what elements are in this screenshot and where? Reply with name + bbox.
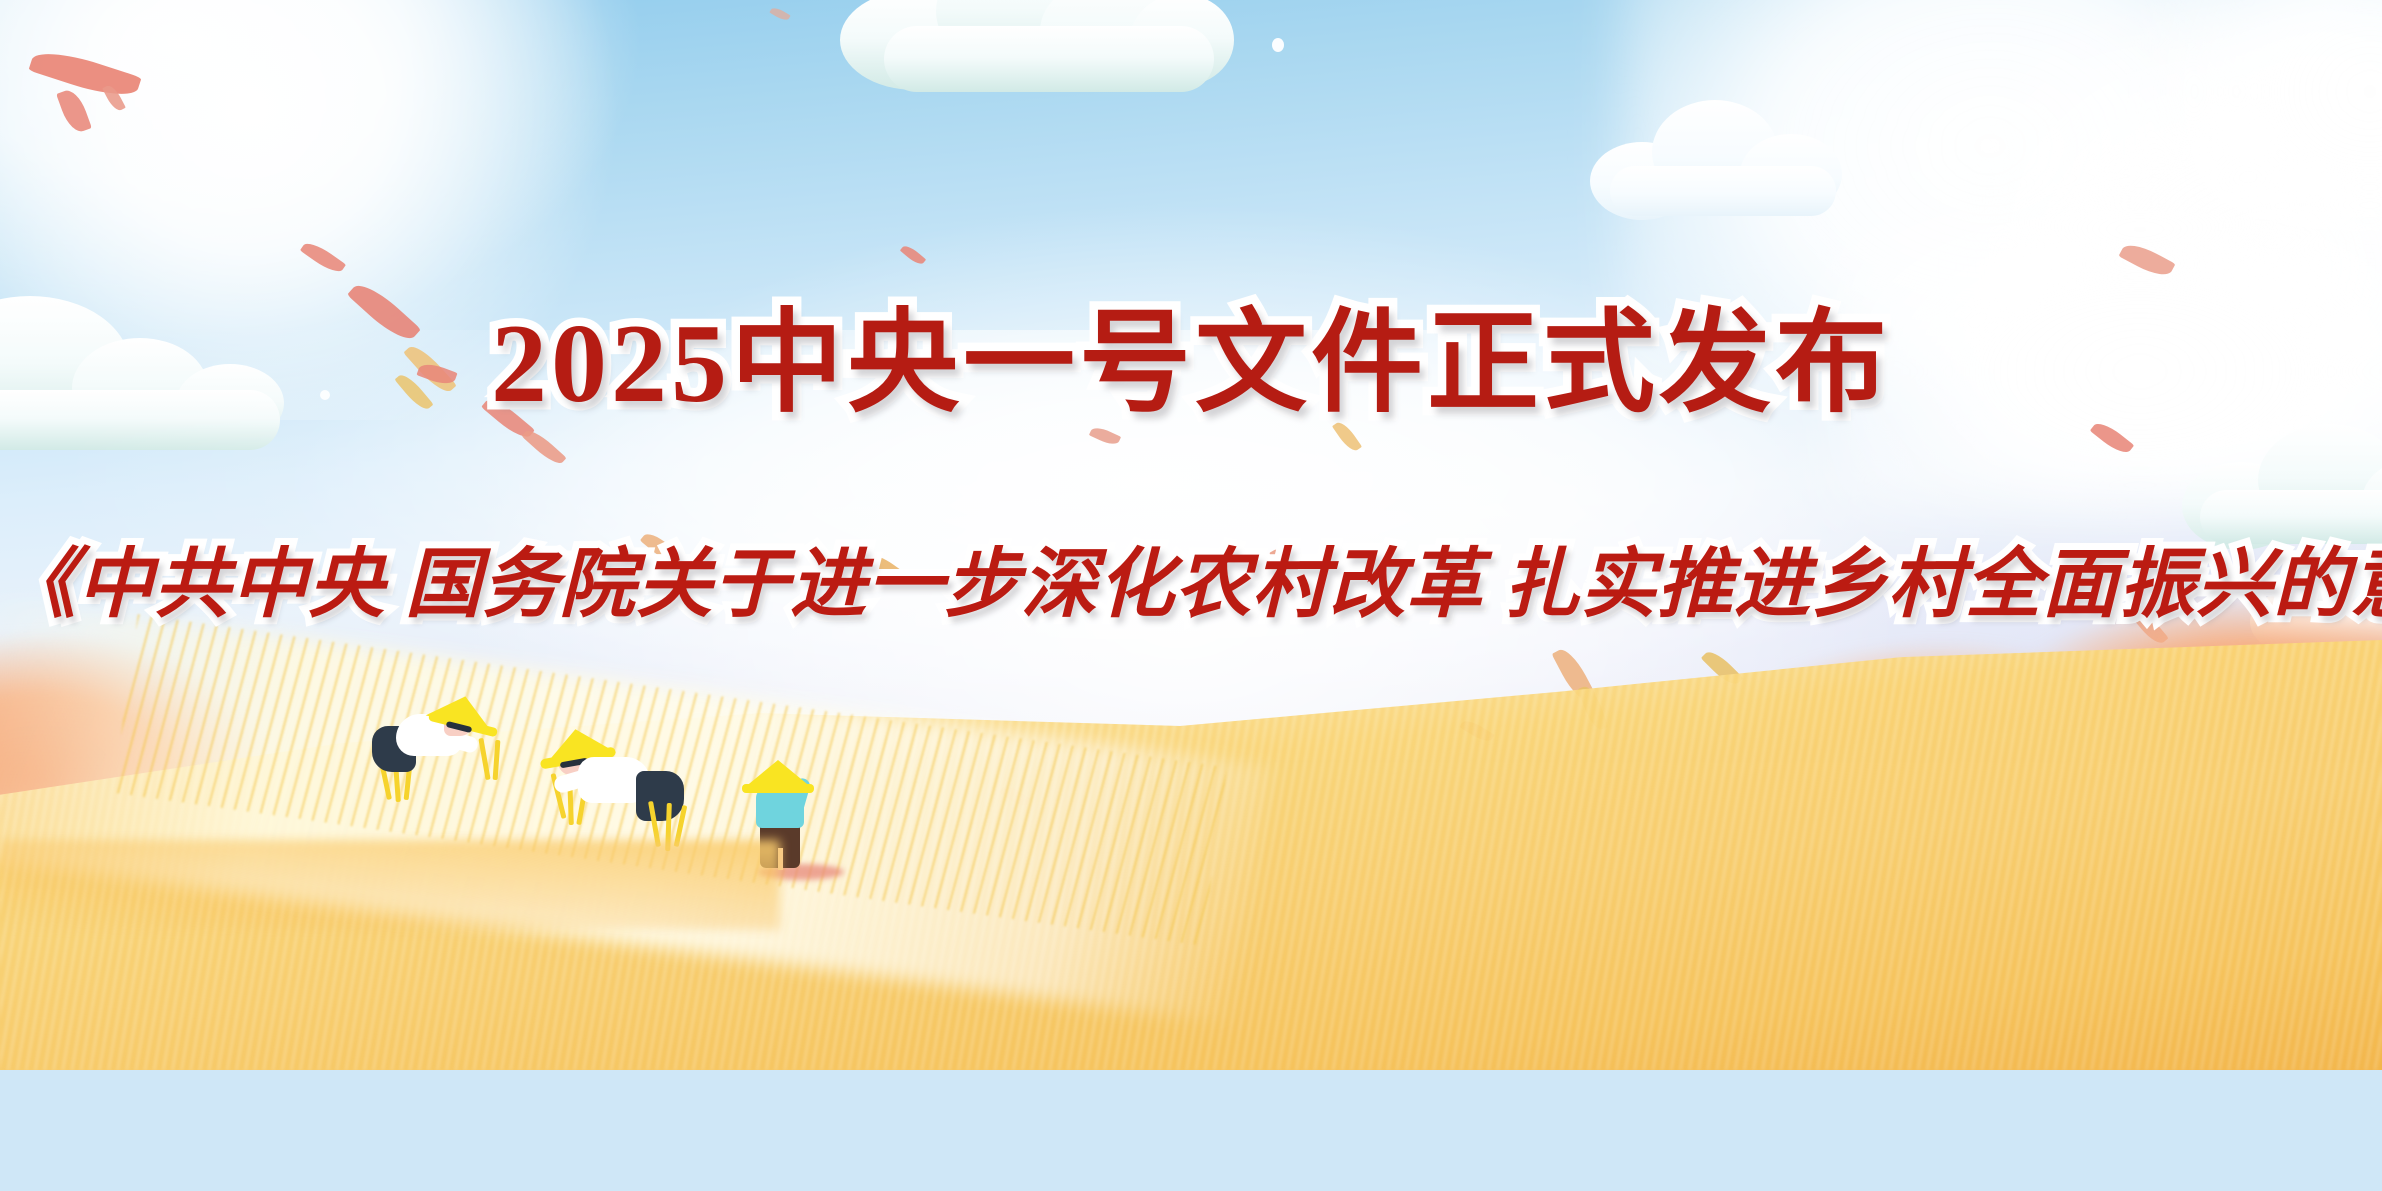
- farmer-center: [548, 735, 698, 850]
- wheat-stalk: [478, 738, 490, 780]
- wheat-edge-left: [0, 840, 780, 930]
- petal: [56, 87, 92, 136]
- poster-canvas: 2025中央一号文件正式发布 《中共中央 国务院关于进一步深化农村改革 扎实推进…: [0, 0, 2382, 1191]
- petal: [28, 44, 141, 105]
- page-title: 2025中央一号文件正式发布: [0, 300, 2382, 429]
- petal: [2118, 238, 2175, 281]
- petal: [300, 238, 346, 277]
- petal: [769, 6, 790, 23]
- petal: [521, 426, 566, 469]
- farmer-trousers: [636, 771, 684, 821]
- wheat-stalk: [493, 740, 501, 780]
- farmer-left: [372, 700, 512, 810]
- petal: [900, 243, 926, 267]
- page-subtitle: 《中共中央 国务院关于进一步深化农村改革 扎实推进乡村全面振兴的意见》: [0, 540, 2382, 631]
- hat-brim: [742, 784, 814, 793]
